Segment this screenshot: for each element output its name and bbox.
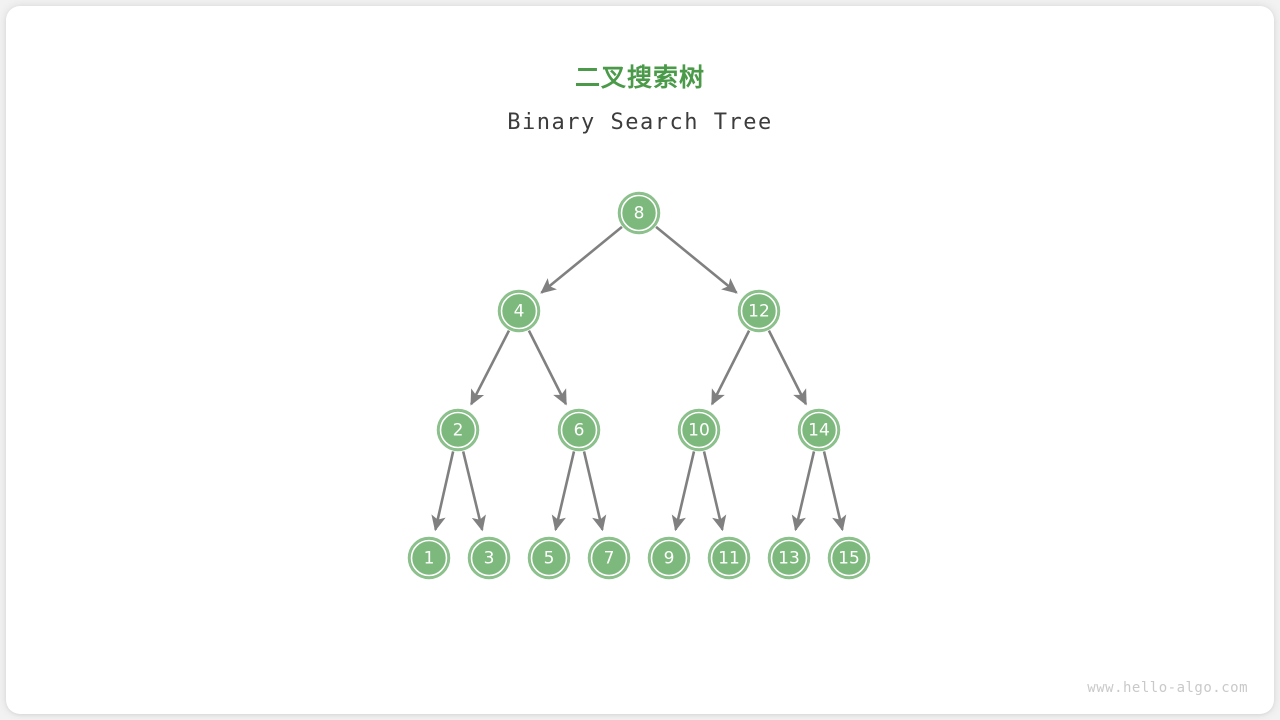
node-label: 4: [514, 302, 525, 322]
tree-edge: [704, 451, 722, 529]
tree-node[interactable]: 9: [649, 538, 689, 578]
tree-edge: [676, 451, 694, 529]
tree-node[interactable]: 13: [769, 538, 809, 578]
binary-search-tree-diagram: 841226101413579111315: [6, 6, 1274, 714]
node-label: 15: [838, 549, 860, 569]
edge-layer: [435, 227, 842, 530]
tree-edge: [463, 451, 482, 529]
node-label: 5: [544, 549, 555, 569]
tree-node[interactable]: 7: [589, 538, 629, 578]
node-label: 1: [424, 549, 435, 569]
tree-node[interactable]: 4: [499, 291, 539, 331]
node-label: 6: [574, 421, 585, 441]
tree-edge: [529, 331, 566, 404]
tree-node[interactable]: 14: [799, 410, 839, 450]
tree-edge: [435, 451, 453, 529]
tree-edge: [712, 331, 749, 404]
node-label: 10: [688, 421, 710, 441]
node-label: 12: [748, 302, 770, 322]
diagram-card: 二叉搜索树 Binary Search Tree 841226101413579…: [6, 6, 1274, 714]
node-label: 3: [484, 549, 495, 569]
tree-edge: [769, 331, 806, 404]
tree-node[interactable]: 3: [469, 538, 509, 578]
node-label: 7: [604, 549, 615, 569]
tree-node[interactable]: 8: [619, 193, 659, 233]
node-label: 11: [718, 549, 740, 569]
tree-edge: [556, 451, 574, 529]
node-label: 13: [778, 549, 800, 569]
tree-node[interactable]: 2: [438, 410, 478, 450]
tree-edge: [584, 451, 602, 529]
tree-node[interactable]: 12: [739, 291, 779, 331]
tree-node[interactable]: 6: [559, 410, 599, 450]
tree-node[interactable]: 11: [709, 538, 749, 578]
tree-node[interactable]: 1: [409, 538, 449, 578]
tree-node[interactable]: 15: [829, 538, 869, 578]
node-label: 9: [664, 549, 675, 569]
tree-edge: [796, 451, 814, 529]
tree-node[interactable]: 5: [529, 538, 569, 578]
node-layer: 841226101413579111315: [409, 193, 869, 578]
tree-edge: [656, 227, 736, 293]
tree-edge: [541, 227, 621, 293]
node-label: 14: [808, 421, 830, 441]
site-watermark: www.hello-algo.com: [1087, 680, 1248, 696]
tree-edge: [471, 331, 509, 405]
node-label: 8: [634, 204, 645, 224]
tree-node[interactable]: 10: [679, 410, 719, 450]
node-label: 2: [453, 421, 464, 441]
tree-edge: [824, 451, 842, 529]
